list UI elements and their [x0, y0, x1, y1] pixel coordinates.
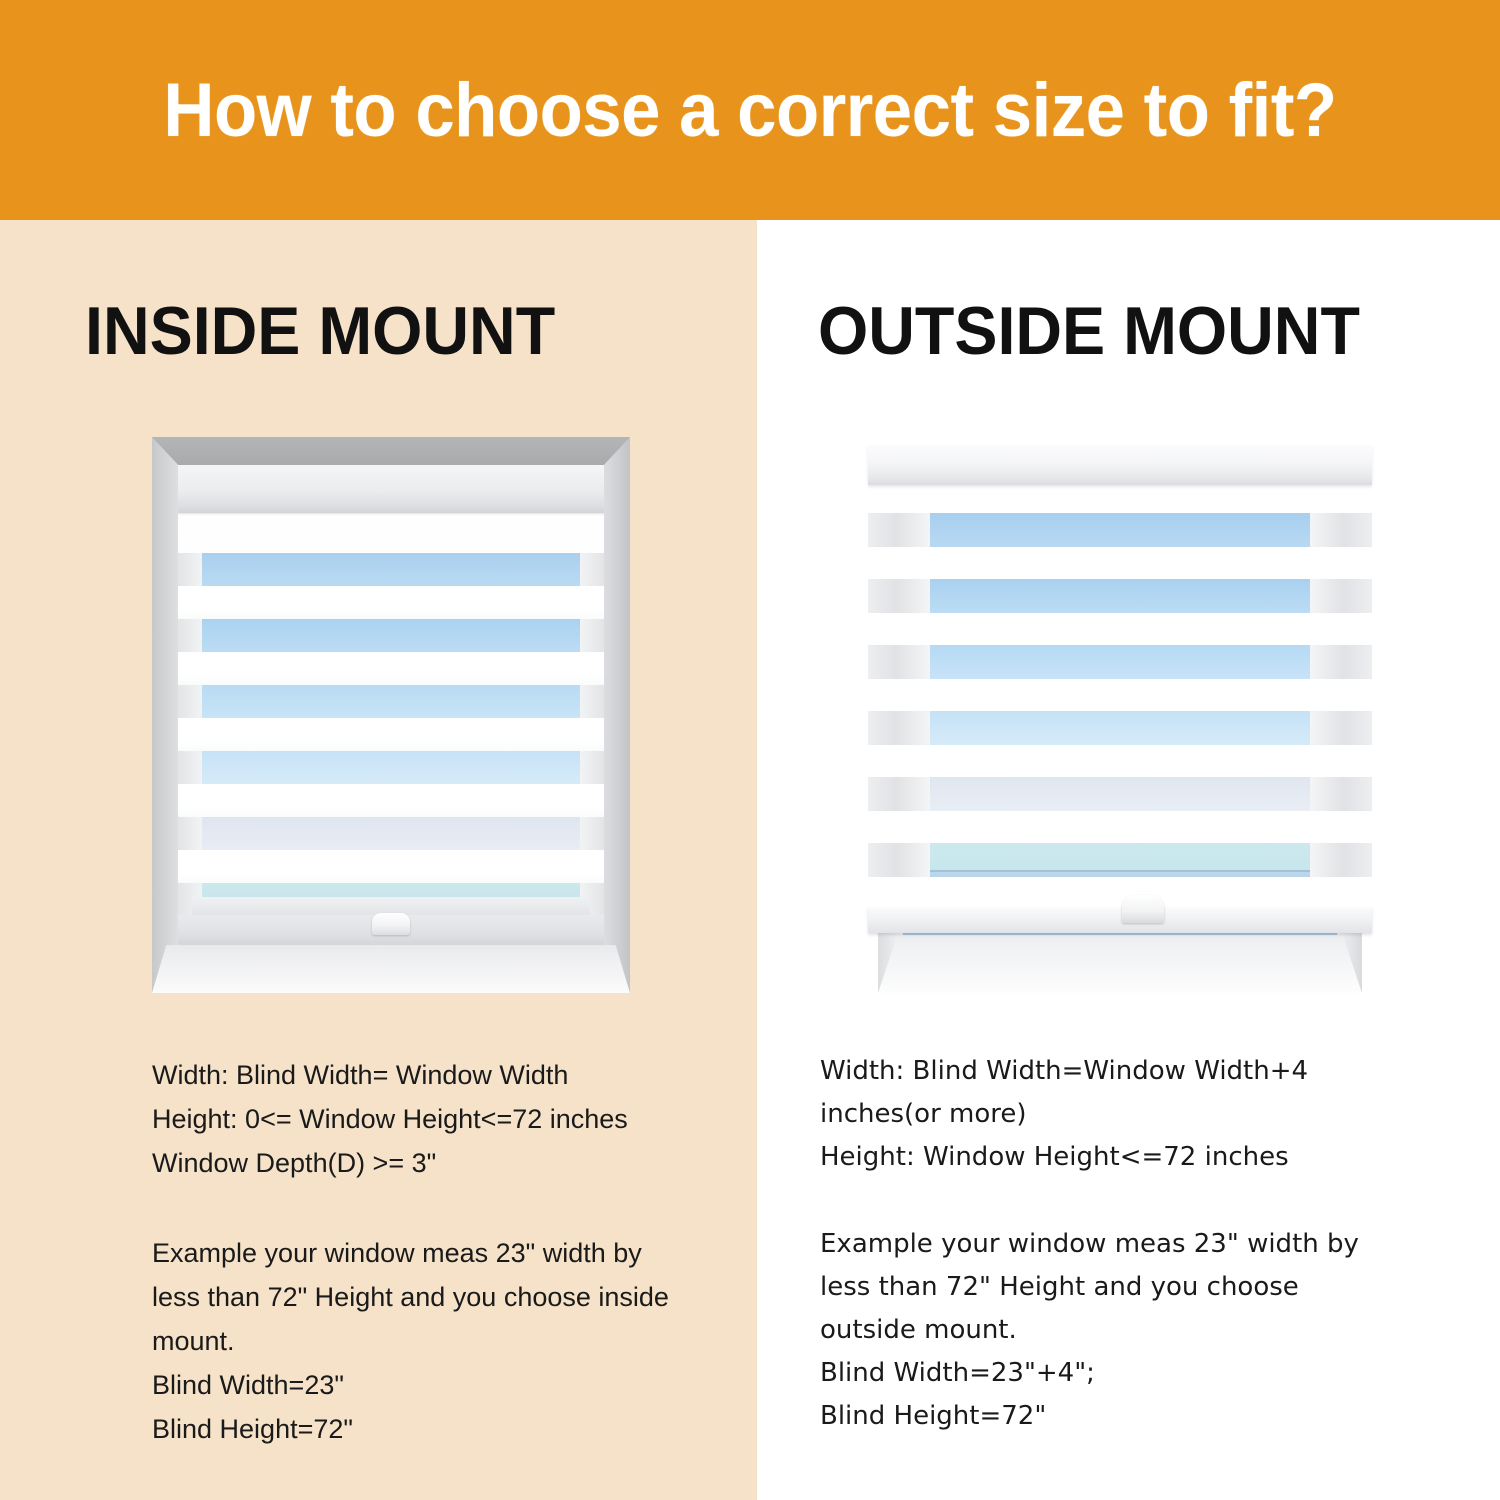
inside-mount-copy: Width: Blind Width= Window Width Height:…	[152, 1053, 737, 1451]
outside-mount-window-diagram	[860, 437, 1380, 993]
outside-mount-heading: OUTSIDE MOUNT	[818, 292, 1360, 370]
blind-open-band	[868, 645, 1372, 679]
blind-overhang-left	[868, 513, 930, 547]
blind-opaque-band	[868, 877, 1372, 909]
blind-overhang-left	[868, 645, 930, 679]
blind-headrail	[868, 445, 1372, 485]
blind-edge-right	[580, 751, 604, 784]
blind-open-band	[178, 817, 604, 850]
inside-example-line: less than 72" Height and you choose insi…	[152, 1275, 737, 1319]
blind-open-band	[178, 619, 604, 652]
window-reveal-top	[152, 437, 630, 465]
inside-example-line: Blind Width=23"	[152, 1363, 737, 1407]
blind-opaque-band	[868, 745, 1372, 777]
inside-spec-line: Height: 0<= Window Height<=72 inches	[152, 1097, 737, 1141]
blind-edge-left	[178, 619, 202, 652]
blind-edge-left	[178, 751, 202, 784]
outside-spec-line: inches(or more)	[820, 1093, 1420, 1136]
blind-open-band	[868, 513, 1372, 547]
blind-opaque-band	[178, 586, 604, 619]
inside-example-line: Blind Height=72"	[152, 1407, 737, 1451]
blind-overhang-left	[868, 777, 930, 811]
outside-example-line: Example your window meas 23" width by	[820, 1223, 1420, 1266]
blind-overhang-right	[1310, 645, 1372, 679]
blind-overhang-right	[1310, 777, 1372, 811]
blind-open-band	[868, 579, 1372, 613]
blind-open-band	[868, 777, 1372, 811]
outside-example-line: Blind Height=72"	[820, 1395, 1420, 1438]
outside-mount-copy: Width: Blind Width=Window Width+4 inches…	[820, 1050, 1420, 1438]
blind-overhang-right	[1310, 711, 1372, 745]
inside-example-line: Example your window meas 23" width by	[152, 1231, 737, 1275]
outside-example-line: Blind Width=23"+4";	[820, 1352, 1420, 1395]
blind-open-band	[178, 553, 604, 586]
blind-overhang-left	[868, 843, 930, 877]
blind-opaque-band	[178, 652, 604, 685]
copy-spacer	[820, 1179, 1420, 1223]
blind-opaque-band	[178, 784, 604, 817]
window-reveal-left	[152, 437, 178, 993]
zebra-blind-inside	[178, 465, 604, 945]
blind-overhang-left	[868, 711, 930, 745]
blind-open-band	[178, 751, 604, 784]
blind-pull-handle[interactable]	[1122, 895, 1164, 923]
blind-pull-handle[interactable]	[372, 913, 410, 935]
window-reveal-right	[604, 437, 630, 993]
blind-opaque-band	[868, 613, 1372, 645]
zebra-blind-outside	[860, 437, 1380, 993]
inside-example-line: mount.	[152, 1319, 737, 1363]
copy-spacer	[152, 1185, 737, 1231]
blind-edge-right	[580, 553, 604, 586]
inside-mount-heading: INSIDE MOUNT	[85, 292, 555, 370]
window-sill-ledge	[152, 945, 630, 993]
blind-bottom-rail	[868, 907, 1372, 933]
blind-headrail	[178, 465, 604, 513]
blind-opaque-band	[868, 547, 1372, 579]
blind-edge-left	[178, 553, 202, 586]
outside-example-line: less than 72" Height and you choose	[820, 1266, 1420, 1309]
blind-edge-right	[580, 619, 604, 652]
blind-opaque-band	[868, 485, 1372, 513]
blind-overhang-right	[1310, 513, 1372, 547]
blind-edge-left	[178, 685, 202, 718]
inside-spec-line: Width: Blind Width= Window Width	[152, 1053, 737, 1097]
blind-opaque-band	[868, 679, 1372, 711]
blind-open-band	[178, 685, 604, 718]
blind-overhang-right	[1310, 843, 1372, 877]
blind-edge-left	[178, 817, 202, 850]
page-title: How to choose a correct size to fit?	[53, 0, 1448, 220]
blind-opaque-band	[178, 850, 604, 883]
inside-spec-line: Window Depth(D) >= 3"	[152, 1141, 737, 1185]
blind-edge-right	[580, 817, 604, 850]
infographic-page: How to choose a correct size to fit? INS…	[0, 0, 1500, 1500]
blind-overhang-right	[1310, 579, 1372, 613]
blind-opaque-band	[868, 811, 1372, 843]
blind-overhang-left	[868, 579, 930, 613]
blind-opaque-band	[178, 718, 604, 751]
outside-spec-line: Width: Blind Width=Window Width+4	[820, 1050, 1420, 1093]
blind-open-band	[868, 843, 1372, 877]
inside-mount-window-diagram	[152, 437, 630, 993]
blind-sheer-band	[178, 513, 604, 553]
blind-open-band	[868, 711, 1372, 745]
outside-spec-line: Height: Window Height<=72 inches	[820, 1136, 1420, 1179]
window-opening	[178, 465, 604, 945]
blind-edge-right	[580, 685, 604, 718]
outside-example-line: outside mount.	[820, 1309, 1420, 1352]
